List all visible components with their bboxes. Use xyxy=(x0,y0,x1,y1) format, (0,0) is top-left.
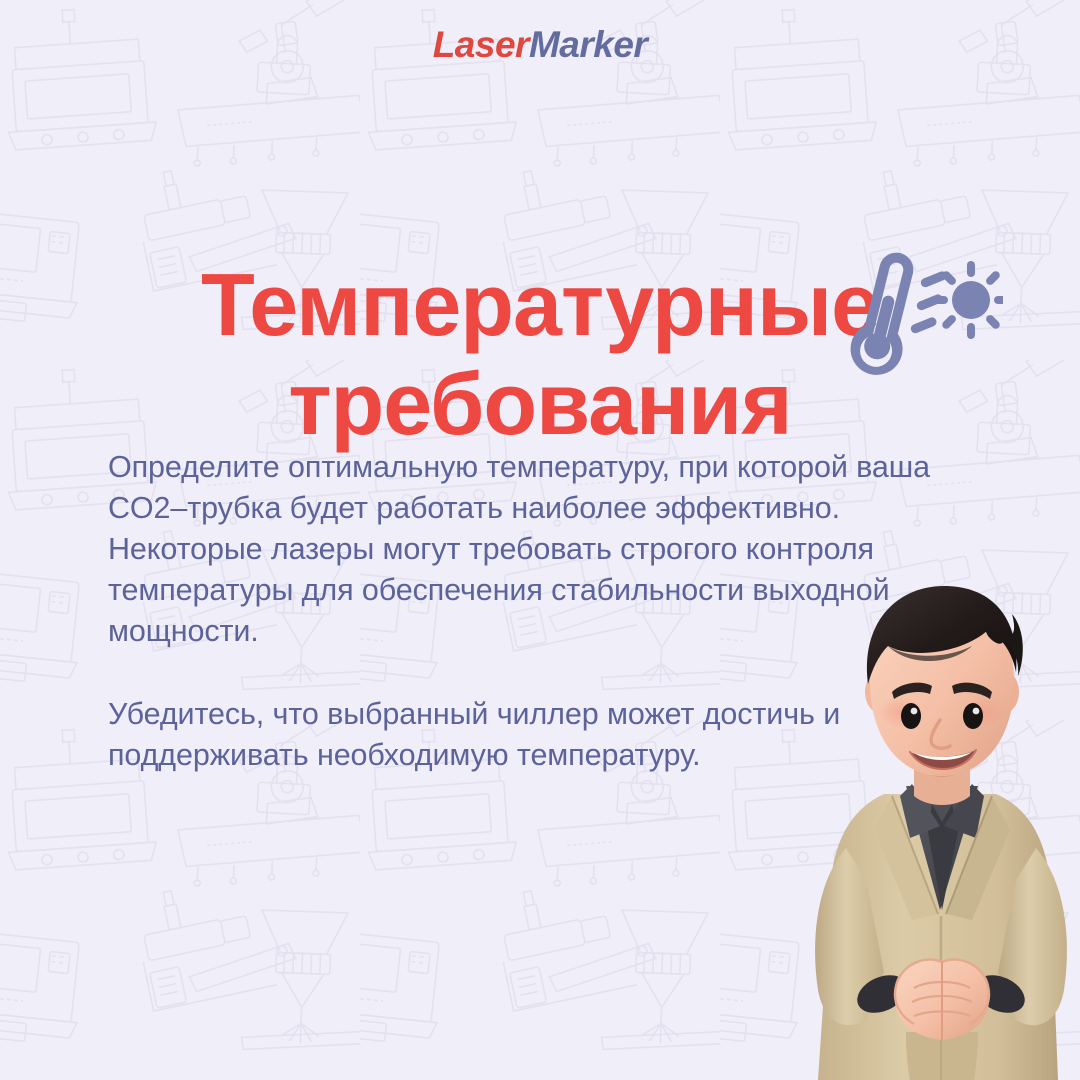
businessman-3d-avatar xyxy=(788,580,1080,1080)
infographic-card: LaserMarker Температурные требования xyxy=(0,0,1080,1080)
logo-text-laser: Laser xyxy=(433,24,529,65)
logo-text-marker: Marker xyxy=(529,24,647,65)
thermometer-sun-icon xyxy=(828,243,1003,388)
brand-logo: LaserMarker xyxy=(0,24,1080,66)
